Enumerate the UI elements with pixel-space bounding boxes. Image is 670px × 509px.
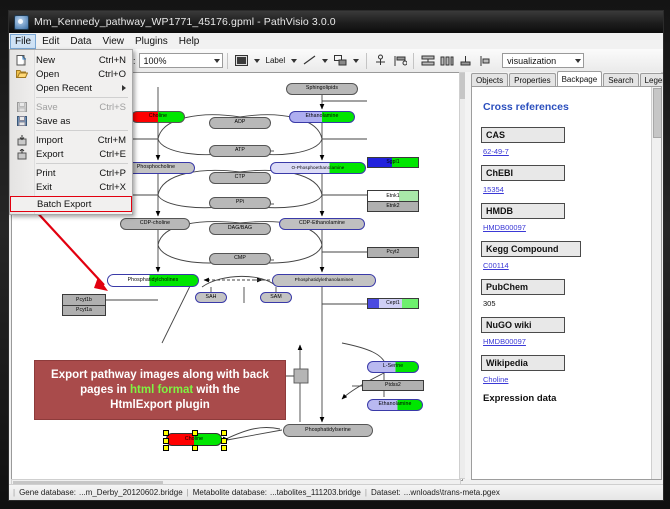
node-choline-bottom-selection[interactable]: Choline: [166, 433, 222, 446]
menu-view[interactable]: View: [97, 34, 129, 49]
align-distribute-icon[interactable]: [419, 52, 436, 69]
menu-file[interactable]: File: [10, 34, 36, 49]
file-menu-open[interactable]: Open Ctrl+O: [10, 67, 132, 81]
node-phosphatidylserine[interactable]: Phosphatidylserine: [283, 424, 373, 437]
node-phosphatidylethanolamines[interactable]: Phosphatidylethanolamines: [272, 274, 376, 287]
chevron-down-icon: [291, 59, 297, 63]
db-link-kegg-compound[interactable]: C00114: [483, 261, 652, 270]
shape-tool[interactable]: [331, 52, 362, 69]
menu-separator: [36, 130, 128, 131]
window-titlebar: Mm_Kennedy_pathway_WP1771_45176.gpml - P…: [9, 11, 663, 33]
toolbar-separator: [366, 53, 367, 69]
zoom-value: 100%: [144, 56, 167, 66]
db-label-cas: CAS: [481, 127, 565, 143]
callout-line-1: Export pathway images along with back: [51, 368, 269, 383]
scrollbar-thumb[interactable]: [653, 88, 662, 138]
callout-line-2: pages in html format with the: [80, 383, 240, 398]
node-l-serine[interactable]: L-Serine: [367, 361, 419, 373]
file-menu-save-as-label: Save as: [36, 116, 70, 127]
file-menu-import[interactable]: Import Ctrl+M: [10, 133, 132, 147]
chevron-down-icon: [214, 59, 220, 63]
line-tool[interactable]: [300, 52, 331, 69]
db-label-kegg-compound: Kegg Compound: [481, 241, 581, 257]
db-label-wikipedia: Wikipedia: [481, 355, 565, 371]
file-menu-open-recent-label: Open Recent: [36, 83, 92, 94]
selection-handle[interactable]: [221, 445, 227, 451]
node-atp[interactable]: ATP: [209, 145, 271, 157]
node-adp[interactable]: ADP: [209, 117, 271, 129]
selection-handle[interactable]: [192, 430, 198, 436]
tab-properties[interactable]: Properties: [509, 73, 555, 87]
save-disk-icon: [15, 101, 28, 114]
node-ethanolamine-right[interactable]: Ethanolamine: [367, 399, 423, 411]
selection-handle[interactable]: [192, 445, 198, 451]
node-pcyt1a[interactable]: Pcyt1a: [62, 305, 106, 316]
label-tool[interactable]: Label: [263, 54, 301, 67]
menu-edit[interactable]: Edit: [37, 34, 64, 49]
node-ptdss2[interactable]: Ptdss2: [362, 380, 424, 391]
node-o-phosphoethanolamine[interactable]: O-Phosphoethanolamine: [270, 162, 366, 174]
db-label-pubchem: PubChem: [481, 279, 565, 295]
status-separator: |: [365, 488, 367, 497]
chevron-down-icon: [575, 59, 581, 63]
file-menu-import-accel: Ctrl+M: [98, 135, 126, 146]
file-menu-save-accel: Ctrl+S: [99, 102, 126, 113]
menu-help[interactable]: Help: [174, 34, 205, 49]
file-menu-exit[interactable]: Exit Ctrl+X: [10, 180, 132, 194]
status-metabolite-database-value: ...tabolites_111203.bridge: [270, 488, 361, 497]
tab-legend[interactable]: Legend: [640, 73, 664, 87]
node-pcyt2[interactable]: Pcyt2: [367, 247, 419, 258]
import-icon: [15, 134, 28, 147]
callout-highlight-html-format: html format: [130, 384, 193, 396]
shape-icon: [332, 52, 349, 69]
callout-line-2c: with the: [193, 384, 240, 396]
align-left-icon[interactable]: [391, 52, 408, 69]
selection-handle[interactable]: [163, 445, 169, 451]
status-dataset-label: Dataset:: [371, 488, 401, 497]
selection-handle[interactable]: [221, 438, 227, 444]
tab-search[interactable]: Search: [603, 73, 638, 87]
menu-data[interactable]: Data: [65, 34, 96, 49]
toolbar-separator: [413, 53, 414, 69]
group-icon[interactable]: [476, 52, 493, 69]
backpage-content: Cross references CAS 62-49-7 ChEBI 15354…: [471, 86, 662, 480]
menu-separator: [36, 163, 128, 164]
menu-plugins[interactable]: Plugins: [130, 34, 173, 49]
node-cdp-ethanolamine[interactable]: CDP-Ethanolamine: [279, 218, 365, 230]
chevron-down-icon: [353, 59, 359, 63]
line-icon: [301, 52, 318, 69]
node-cmp[interactable]: CMP: [209, 253, 271, 265]
statusbar: | Gene database: ...m_Derby_20120602.bri…: [9, 484, 663, 500]
file-menu-save-label: Save: [36, 102, 58, 113]
file-menu-save-as[interactable]: Save as: [10, 114, 132, 128]
file-menu-new-label: New: [36, 55, 55, 66]
open-folder-icon: [15, 68, 28, 81]
callout-line-2a: pages in: [80, 384, 130, 396]
node-sah[interactable]: SAH: [195, 292, 227, 303]
node-dag-bag[interactable]: DAG/BAG: [209, 223, 271, 235]
menu-separator: [36, 97, 128, 98]
cross-references-title: Cross references: [483, 101, 652, 113]
submenu-arrow-icon: [122, 85, 126, 91]
selection-handle[interactable]: [221, 430, 227, 436]
db-label-hmdb: HMDB: [481, 203, 565, 219]
file-menu-print-accel: Ctrl+P: [99, 168, 126, 179]
stack-icon[interactable]: [457, 52, 474, 69]
file-menu-batch-export[interactable]: Batch Export: [10, 196, 132, 212]
node-etnk2[interactable]: Etnk2: [367, 201, 419, 212]
align-columns-icon[interactable]: [438, 52, 455, 69]
file-menu-open-accel: Ctrl+O: [98, 69, 126, 80]
db-value-pubchem: 305: [483, 299, 652, 308]
file-menu-export[interactable]: Export Ctrl+E: [10, 147, 132, 161]
db-link-hmdb[interactable]: HMDB00097: [483, 223, 652, 232]
file-menu-export-label: Export: [36, 149, 63, 160]
menubar: File Edit Data View Plugins Help: [9, 33, 663, 50]
file-menu-export-accel: Ctrl+E: [99, 149, 126, 160]
file-menu-open-label: Open: [36, 69, 59, 80]
node-sam[interactable]: SAM: [260, 292, 292, 303]
selection-handle[interactable]: [163, 430, 169, 436]
chevron-down-icon: [322, 59, 328, 63]
node-cept1[interactable]: Cept1: [367, 298, 419, 309]
status-gene-database-label: Gene database:: [19, 488, 76, 497]
screenshot-root: Mm_Kennedy_pathway_WP1771_45176.gpml - P…: [0, 0, 670, 509]
tab-objects[interactable]: Objects: [471, 73, 508, 87]
datanode-tool[interactable]: [232, 52, 263, 69]
toolbar-separator: [227, 53, 228, 69]
anchor-icon[interactable]: [372, 52, 389, 69]
side-panel: Objects Properties Backpage Search Legen…: [465, 72, 661, 479]
status-metabolite-database-label: Metabolite database:: [193, 488, 267, 497]
file-menu-new[interactable]: New Ctrl+N: [10, 53, 132, 67]
node-ethanolamine-top[interactable]: Ethanolamine: [289, 111, 355, 123]
visualization-value: visualization: [507, 56, 556, 66]
node-ppi[interactable]: PPi: [209, 197, 271, 209]
status-separator: |: [187, 488, 189, 497]
file-menu-import-label: Import: [36, 135, 63, 146]
expression-data-label: Expression data: [483, 393, 652, 404]
annotation-callout: Export pathway images along with back pa…: [34, 360, 286, 420]
status-gene-database-value: ...m_Derby_20120602.bridge: [79, 488, 183, 497]
file-menu-exit-accel: Ctrl+X: [99, 182, 126, 193]
node-etnk1[interactable]: Etnk1: [367, 190, 419, 201]
status-dataset-value: ...wnloads\trans-meta.pgex: [404, 488, 500, 497]
chevron-down-icon: [254, 59, 260, 63]
db-link-wikipedia[interactable]: Choline: [483, 375, 652, 384]
node-ctp[interactable]: CTP: [209, 172, 271, 184]
zoom-combobox[interactable]: 100%: [139, 53, 223, 68]
export-icon: [15, 148, 28, 161]
file-menu-print[interactable]: Print Ctrl+P: [10, 166, 132, 180]
callout-line-3: HtmlExport plugin: [110, 398, 210, 413]
file-menu-print-label: Print: [36, 168, 56, 179]
pathvisio-icon: [14, 15, 29, 30]
label-button: Label: [263, 54, 289, 67]
db-link-chebi[interactable]: 15354: [483, 185, 652, 194]
node-sgpl1[interactable]: Sgpl1: [367, 157, 419, 168]
node-pcyt1b[interactable]: Pcyt1b: [62, 294, 106, 305]
selection-handle[interactable]: [163, 438, 169, 444]
file-menu-batch-export-label: Batch Export: [37, 199, 91, 210]
side-panel-tabs: Objects Properties Backpage Search Legen…: [471, 72, 661, 87]
datanode-icon: [233, 52, 250, 69]
node-sphingolipids[interactable]: Sphingolipids: [286, 83, 358, 95]
new-document-icon: [15, 54, 28, 67]
tab-backpage[interactable]: Backpage: [557, 71, 603, 87]
file-menu-open-recent[interactable]: Open Recent: [10, 81, 132, 95]
pathvisio-window: Mm_Kennedy_pathway_WP1771_45176.gpml - P…: [8, 10, 664, 501]
db-label-nugo-wiki: NuGO wiki: [481, 317, 565, 333]
file-menu-new-accel: Ctrl+N: [99, 55, 126, 66]
backpage-vertical-scrollbar[interactable]: [651, 87, 661, 479]
visualization-combobox[interactable]: visualization: [502, 53, 584, 68]
status-separator: |: [13, 488, 15, 497]
node-choline-top[interactable]: Choline: [131, 111, 185, 123]
node-cdp-choline[interactable]: CDP-choline: [120, 218, 190, 230]
db-link-nugo-wiki[interactable]: HMDB00097: [483, 337, 652, 346]
db-link-cas[interactable]: 62-49-7: [483, 147, 652, 156]
db-label-chebi: ChEBI: [481, 165, 565, 181]
file-menu-exit-label: Exit: [36, 182, 52, 193]
file-menu-save: Save Ctrl+S: [10, 100, 132, 114]
node-phosphatidylcholines[interactable]: Phosphatidylcholines: [107, 274, 199, 287]
save-as-icon: [15, 115, 28, 128]
window-title: Mm_Kennedy_pathway_WP1771_45176.gpml - P…: [34, 16, 336, 28]
file-menu-dropdown[interactable]: New Ctrl+N Open Ctrl+O Open Recent Save: [9, 49, 133, 215]
